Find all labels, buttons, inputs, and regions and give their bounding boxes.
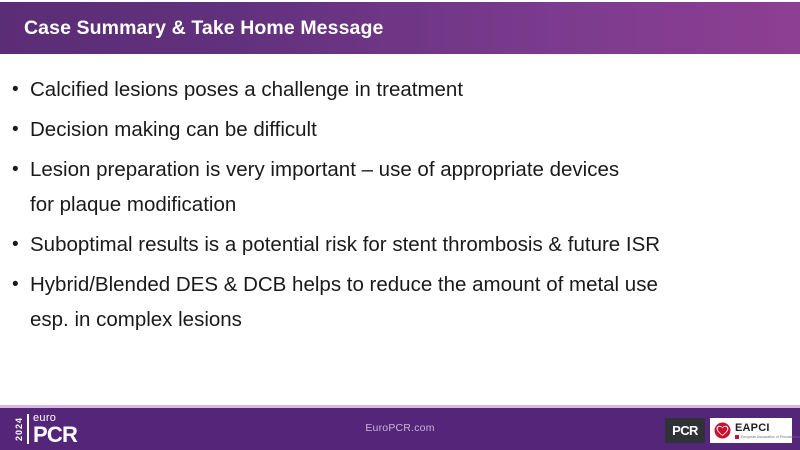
page-title: Case Summary & Take Home Message — [24, 17, 383, 40]
heart-icon — [714, 422, 731, 439]
bullet-point-icon: • — [12, 72, 30, 107]
pcr-badge-label: PCR — [672, 423, 698, 438]
eapci-badge-logo: EAPCI European Association of Percutaneo… — [710, 418, 792, 443]
list-item-text: Suboptimal results is a potential risk f… — [30, 227, 790, 262]
list-item: • Decision making can be difficult — [12, 112, 790, 147]
footer-partner-logos: PCR EAPCI European Association of Percut… — [665, 418, 792, 443]
list-item: • Calcified lesions poses a challenge in… — [12, 72, 790, 107]
slide-canvas: Case Summary & Take Home Message • Calci… — [0, 0, 800, 450]
list-item-text: Hybrid/Blended DES & DCB helps to reduce… — [30, 267, 790, 337]
bullet-point-icon: • — [12, 152, 30, 187]
bullet-point-icon: • — [12, 227, 30, 262]
eapci-subtitle-row: European Association of Percutaneous Car… — [735, 435, 800, 439]
list-item-text: Lesion preparation is very important – u… — [30, 152, 790, 222]
list-item-text: Calcified lesions poses a challenge in t… — [30, 72, 790, 107]
list-item-text: Decision making can be difficult — [30, 112, 790, 147]
eapci-square-icon — [735, 435, 739, 439]
pcr-badge-logo: PCR — [665, 418, 705, 443]
bullet-point-icon: • — [12, 267, 30, 302]
list-item: • Suboptimal results is a potential risk… — [12, 227, 790, 262]
list-item: • Hybrid/Blended DES & DCB helps to redu… — [12, 267, 790, 337]
eapci-text-column: EAPCI European Association of Percutaneo… — [735, 423, 800, 439]
eapci-name-label: EAPCI — [735, 423, 800, 434]
slide-header-bar: Case Summary & Take Home Message — [0, 2, 800, 54]
bullet-list: • Calcified lesions poses a challenge in… — [0, 72, 800, 402]
bullet-point-icon: • — [12, 112, 30, 147]
eapci-subtitle-label: European Association of Percutaneous Car… — [741, 435, 800, 439]
list-item: • Lesion preparation is very important –… — [12, 152, 790, 222]
